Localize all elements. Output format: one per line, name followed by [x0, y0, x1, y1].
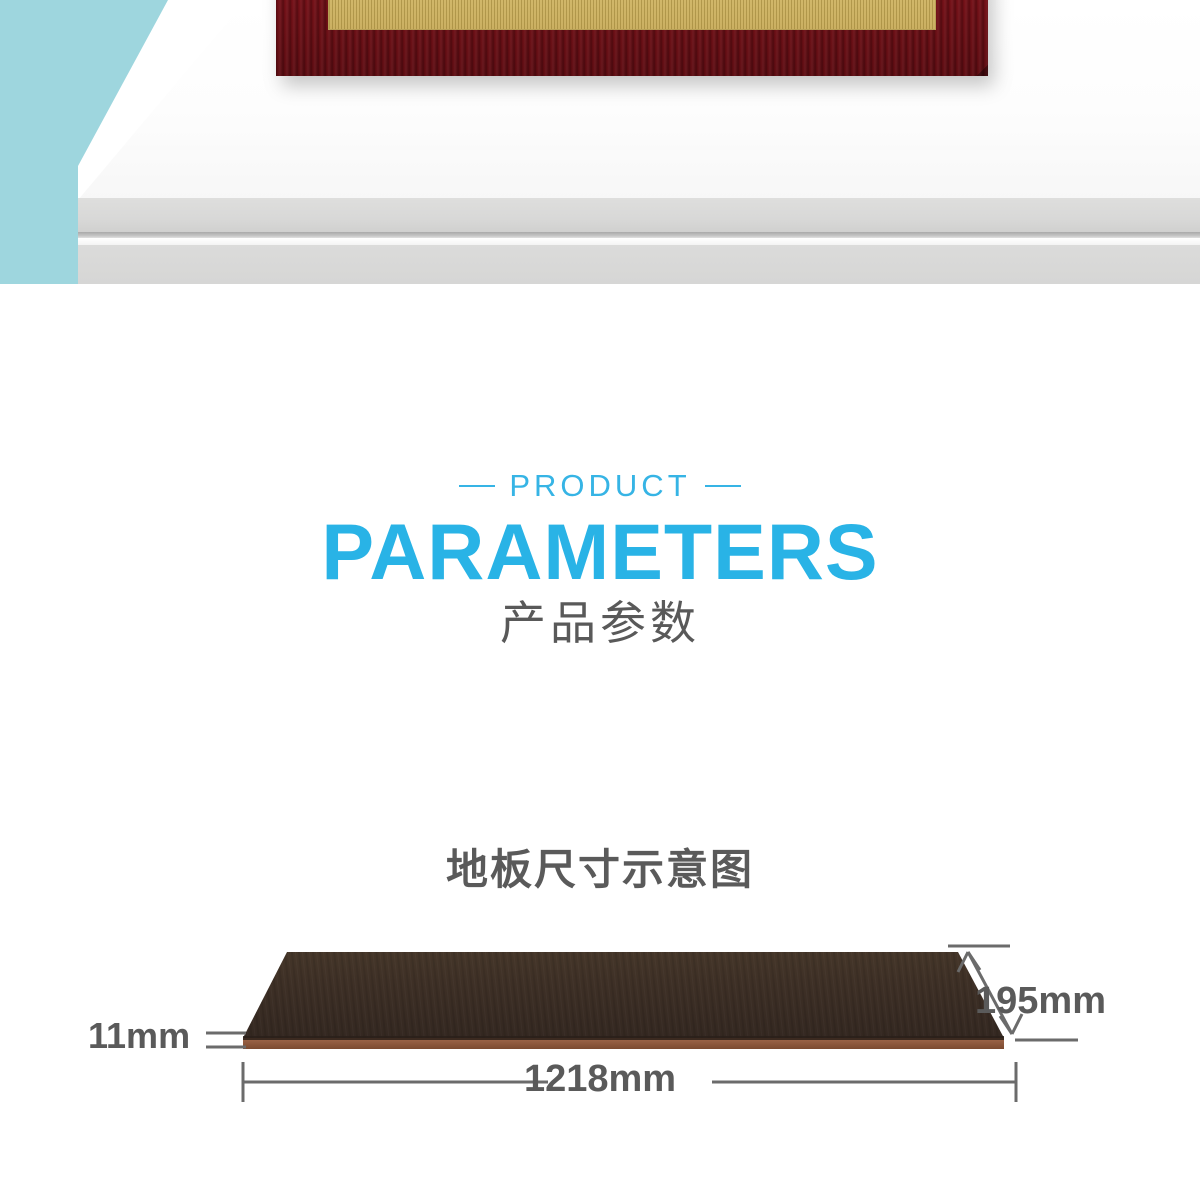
plaque-gold-plate [328, 0, 936, 30]
thickness-marker [206, 1033, 246, 1047]
kicker-text: PRODUCT [509, 470, 690, 501]
wooden-plaque [276, 0, 988, 76]
page-title: PARAMETERS [0, 509, 1200, 594]
depth-label: 195mm [975, 980, 1106, 1023]
floor-dimension-diagram: 11mm 195mm 1218mm [0, 930, 1200, 1150]
diagram-heading: 地板尺寸示意图 [0, 836, 1200, 897]
product-photo-banner [0, 0, 1200, 284]
page-subtitle: 产品参数 [0, 596, 1200, 651]
plank-grain-overlay [243, 952, 1004, 1038]
width-label: 1218mm [0, 1058, 1200, 1101]
product-detail-page: PRODUCT PARAMETERS 产品参数 地板尺寸示意图 [0, 0, 1200, 1194]
cabinet-body-panel [78, 245, 1200, 284]
kicker-row: PRODUCT [0, 470, 1200, 501]
kicker-dash-left-icon [459, 485, 495, 487]
kicker-dash-right-icon [705, 485, 741, 487]
plank-edge-shadow [243, 1036, 1004, 1040]
thickness-label: 11mm [88, 1015, 190, 1057]
section-title-block: PRODUCT PARAMETERS 产品参数 [0, 470, 1200, 652]
cabinet-edge-band [78, 198, 1200, 234]
